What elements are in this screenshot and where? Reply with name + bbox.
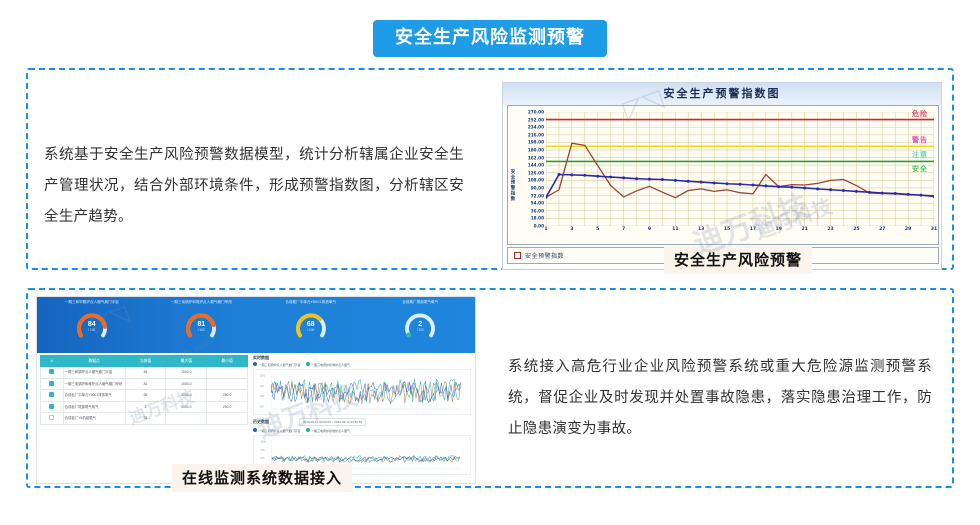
chart-x-tick: 21 [801, 227, 807, 232]
checkbox-icon[interactable] [49, 392, 54, 397]
chart-y-tick: 162.00 [528, 155, 544, 160]
legend-label: 安全预警指数 [525, 251, 564, 260]
page-title: 安全生产风险监测预警 [373, 20, 607, 57]
history-chart-title: 历史数据 [253, 419, 269, 425]
table-column-header[interactable]: 最大值 [166, 356, 207, 367]
chart-plot-area: 270.00252.00234.00216.00198.00180.00162.… [546, 112, 934, 226]
row-checkbox-cell[interactable] [41, 367, 64, 379]
table-header-row: #数据点当前值最大值最小值 [41, 356, 248, 367]
gauge-value: 2 [400, 321, 440, 328]
chart-x-tick: 11 [672, 227, 678, 232]
page-title-area: 安全生产风险监测预警 [0, 20, 980, 57]
gauge-dial: 2 / 100 [400, 312, 440, 338]
chart-y-tick: 0.00 [534, 224, 544, 229]
chart-x-tick: 19 [776, 227, 782, 232]
svg-text:750: 750 [260, 385, 265, 388]
row-current: 2 [125, 401, 166, 413]
table-row[interactable]: 合成氨厂Y6机组尾气 58 [41, 413, 248, 425]
gauge-unit: / 100 [72, 328, 112, 332]
chart-x-tick: 23 [827, 227, 833, 232]
chart-y-tick: 72.00 [531, 193, 544, 198]
row-current: 84 [125, 367, 166, 379]
gauge-value: 68 [291, 321, 331, 328]
row-max: 1000.0 [166, 378, 207, 390]
chart-x-tick: 17 [750, 227, 756, 232]
chart-threshold-label: 警告 [912, 135, 928, 145]
monitoring-dashboard-screenshot: 一期三和甲醇炉点人烟气烟门宇宙 84 / 100 一期三电锅炉和堆炉点人烟气烟门… [36, 296, 476, 484]
chart-y-tick: 270.00 [528, 110, 544, 115]
chart-y-tick: 180.00 [528, 147, 544, 152]
gauge-caption: 合成氨厂尾部尾气氧气 [366, 300, 476, 311]
row-current: 58 [125, 413, 166, 425]
chart-y-tick: 18.00 [531, 216, 544, 221]
table-row[interactable]: 合成氨厂中单元Y6001排放氧气 68 1000.0 250.0 [41, 390, 248, 402]
svg-text:500: 500 [260, 395, 265, 398]
checkbox-icon[interactable] [49, 381, 54, 386]
row-name: 合成氨厂Y6机组尾气 [63, 413, 125, 425]
chart-series-svg [546, 112, 934, 226]
section-description-top: 系统基于安全生产风险预警数据模型，统计分析辖属企业安全生产管理状况，结合外部环境… [44, 140, 464, 233]
table-column-header[interactable]: 最小值 [207, 356, 248, 367]
section-description-bottom: 系统接入高危行业企业风险预警系统或重大危险源监测预警系统，督促企业及时发现并处置… [508, 352, 932, 445]
checkbox-icon[interactable] [49, 415, 54, 420]
svg-text:500: 500 [260, 457, 265, 460]
history-chart-legend: 一期三和锅炉点人烟气烟门宇宙 一期三电锅炉和堆炉点人烟气 [253, 428, 350, 433]
chart-y-tick: 108.00 [528, 178, 544, 183]
row-checkbox-cell[interactable] [41, 413, 64, 425]
svg-text:250: 250 [260, 405, 265, 408]
chart-x-tick: 13 [698, 227, 704, 232]
history-legend-item-1: 一期三和锅炉点人烟气烟门宇宙 [253, 428, 301, 433]
chart-x-tick: 29 [905, 227, 911, 232]
row-max: 1000.0 [166, 401, 207, 413]
gauge-caption: 一期三和甲醇炉点人烟气烟门宇宙 [37, 300, 147, 311]
row-min [207, 378, 248, 390]
row-checkbox-cell[interactable] [41, 378, 64, 390]
row-name: 合成氨厂中单元Y6001排放氧气 [63, 390, 125, 402]
page-root: 安全生产风险监测预警 系统基于安全生产风险预警数据模型，统计分析辖属企业安全生产… [0, 0, 980, 525]
gauge-unit: / 100 [400, 328, 440, 332]
row-max: 1000.0 [166, 367, 207, 379]
chart-y-tick: 36.00 [531, 208, 544, 213]
gauge-caption: 一期三电锅炉和堆炉点人烟气烟门甲烷 [147, 300, 257, 311]
gauge-dial: 81 / 100 [181, 312, 221, 338]
chart-x-tick: 27 [879, 227, 885, 232]
history-range-picker[interactable]: 2019-09-12 00:00:00 ~ 2019-09-12 23:59:5… [299, 418, 366, 426]
realtime-line-chart: 1000750500250 [253, 369, 471, 415]
gauge-widget[interactable]: 合成氨厂尾部尾气氧气 2 / 100 [366, 297, 476, 353]
row-current: 81 [125, 378, 166, 390]
checkbox-icon[interactable] [49, 404, 54, 409]
gauge-widget[interactable]: 一期三电锅炉和堆炉点人烟气烟门甲烷 81 / 100 [147, 297, 257, 353]
chart-x-tick: 9 [648, 227, 651, 232]
chart-y-tick: 252.00 [528, 117, 544, 122]
row-max [166, 413, 207, 425]
gauge-dial: 68 / 100 [291, 312, 331, 338]
row-name: 一期三电锅炉和堆炉点人烟气烟门甲烷 [63, 378, 125, 390]
warning-index-chart-screenshot: 安全生产预警指数图 安全预警指数 270.00252.00234.00216.0… [502, 82, 942, 270]
svg-text:750: 750 [260, 449, 265, 452]
gauge-unit: / 100 [291, 328, 331, 332]
table-column-header[interactable]: # [41, 356, 64, 367]
monitoring-data-table: #数据点当前值最大值最小值 一期三和锅炉点人烟气烟门宇宙 84 1000.0 一… [40, 355, 248, 425]
gauge-widget[interactable]: 一期三和甲醇炉点人烟气烟门宇宙 84 / 100 [37, 297, 147, 353]
legend-swatch-icon [514, 252, 521, 259]
chart-x-tick: 3 [570, 227, 573, 232]
table-row[interactable]: 一期三和锅炉点人烟气烟门宇宙 84 1000.0 [41, 367, 248, 379]
caption-dashboard: 在线监测系统数据接入 [172, 464, 352, 492]
chart-title: 安全生产预警指数图 [503, 85, 941, 101]
chart-x-tick: 5 [596, 227, 599, 232]
chart-x-tick: 1 [544, 227, 547, 232]
table-row[interactable]: 合成氨厂尾部尾气氧气 2 1000.0 250.0 [41, 401, 248, 413]
chart-y-axis-title: 安全预警指数 [510, 169, 516, 201]
chart-x-tick: 25 [853, 227, 859, 232]
row-name: 一期三和锅炉点人烟气烟门宇宙 [63, 367, 125, 379]
history-range-label: 2019-09-12 00:00:00 ~ 2019-09-12 23:59:5… [303, 420, 362, 424]
realtime-chart-title: 实时数据 [253, 355, 269, 361]
gauge-dial: 84 / 100 [72, 312, 112, 338]
chart-y-tick: 216.00 [528, 132, 544, 137]
gauge-value: 84 [72, 321, 112, 328]
svg-text:1000: 1000 [260, 375, 266, 378]
gauge-value: 81 [181, 321, 221, 328]
table-row[interactable]: 一期三电锅炉和堆炉点人烟气烟门甲烷 81 1000.0 [41, 378, 248, 390]
table-body: 一期三和锅炉点人烟气烟门宇宙 84 1000.0 一期三电锅炉和堆炉点人烟气烟门… [41, 367, 248, 425]
chart-canvas: 安全预警指数 270.00252.00234.00216.00198.00180… [507, 105, 939, 245]
row-min: 250.0 [207, 390, 248, 402]
chart-threshold-label: 危险 [912, 109, 928, 119]
caption-chart: 安全生产风险预警 [664, 246, 812, 274]
chart-y-tick: 126.00 [528, 170, 544, 175]
chart-y-tick: 54.00 [531, 201, 544, 206]
checkbox-icon[interactable] [49, 369, 54, 374]
gauge-unit: / 100 [181, 328, 221, 332]
chart-y-tick: 90.00 [531, 185, 544, 190]
row-name: 合成氨厂尾部尾气氧气 [63, 401, 125, 413]
row-min [207, 367, 248, 379]
chart-x-tick: 31 [931, 227, 937, 232]
chart-x-tick: 7 [622, 227, 625, 232]
realtime-legend-item-1: 一期三和锅炉点人烟气烟门宇宙 [253, 362, 301, 367]
row-checkbox-cell[interactable] [41, 390, 64, 402]
table-column-header[interactable]: 当前值 [125, 356, 166, 367]
realtime-legend-item-2: 一期三电锅炉和堆炉点人烟气 [306, 362, 351, 367]
row-checkbox-cell[interactable] [41, 401, 64, 413]
row-max: 1000.0 [166, 390, 207, 402]
chart-y-tick: 198.00 [528, 140, 544, 145]
row-min [207, 413, 248, 425]
row-min: 250.0 [207, 401, 248, 413]
chart-threshold-label: 注意 [912, 150, 928, 160]
svg-text:1000: 1000 [260, 441, 266, 444]
table-column-header[interactable]: 数据点 [63, 356, 125, 367]
row-current: 68 [125, 390, 166, 402]
history-legend-item-2: 一期三电锅炉和堆炉点人烟气 [306, 428, 351, 433]
gauge-caption: 合成氨厂中单元Y6001排放氧气 [256, 300, 366, 311]
realtime-chart-legend: 一期三和锅炉点人烟气烟门宇宙 一期三电锅炉和堆炉点人烟气 [253, 362, 350, 367]
chart-threshold-label: 安全 [912, 164, 928, 174]
chart-y-tick: 234.00 [528, 125, 544, 130]
gauge-row: 一期三和甲醇炉点人烟气烟门宇宙 84 / 100 一期三电锅炉和堆炉点人烟气烟门… [37, 297, 475, 353]
gauge-widget[interactable]: 合成氨厂中单元Y6001排放氧气 68 / 100 [256, 297, 366, 353]
chart-x-tick: 15 [724, 227, 730, 232]
chart-y-tick: 144.00 [528, 163, 544, 168]
